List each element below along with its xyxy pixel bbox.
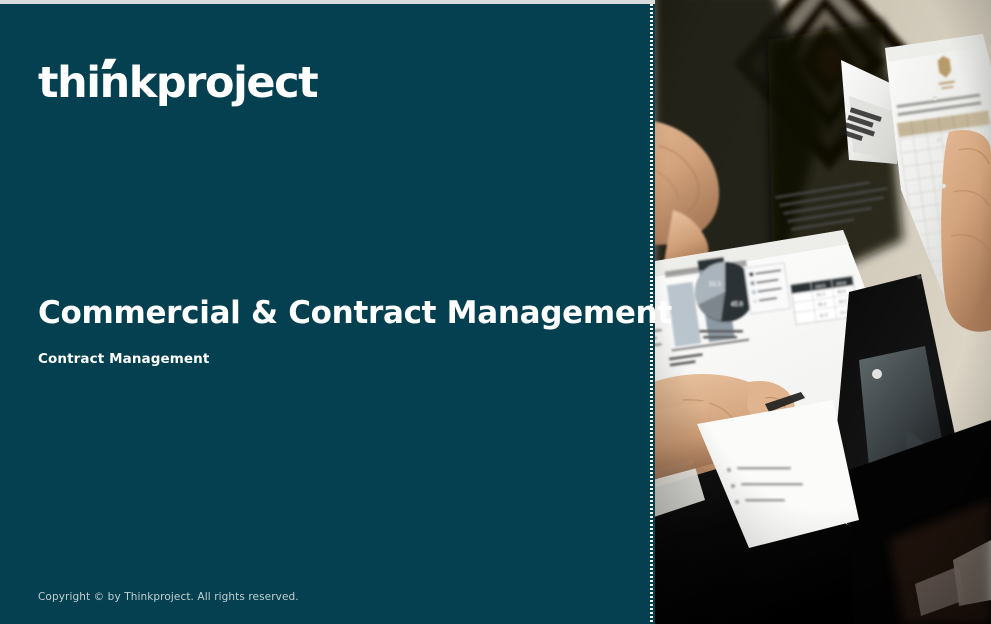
- logo-wordmark: thinkproject: [38, 58, 318, 108]
- dotted-vertical-divider: [650, 0, 653, 624]
- page-title: Commercial & Contract Management: [38, 292, 638, 334]
- thinkproject-logo-mark: thinkproject: [38, 55, 318, 111]
- hands-holding-reports-photo: 53.3 45.9: [653, 0, 991, 624]
- photo-artwork: 53.3 45.9: [653, 0, 991, 624]
- top-edge-strip: [0, 0, 655, 4]
- photo-vignette: [653, 0, 991, 624]
- title-slide: 53.3 45.9: [0, 0, 991, 624]
- copyright-footer: Copyright © by Thinkproject. All rights …: [38, 591, 299, 603]
- page-subtitle: Contract Management: [38, 351, 638, 367]
- title-block: Commercial & Contract Management Contrac…: [38, 292, 638, 367]
- thinkproject-logo[interactable]: thinkproject: [38, 55, 318, 111]
